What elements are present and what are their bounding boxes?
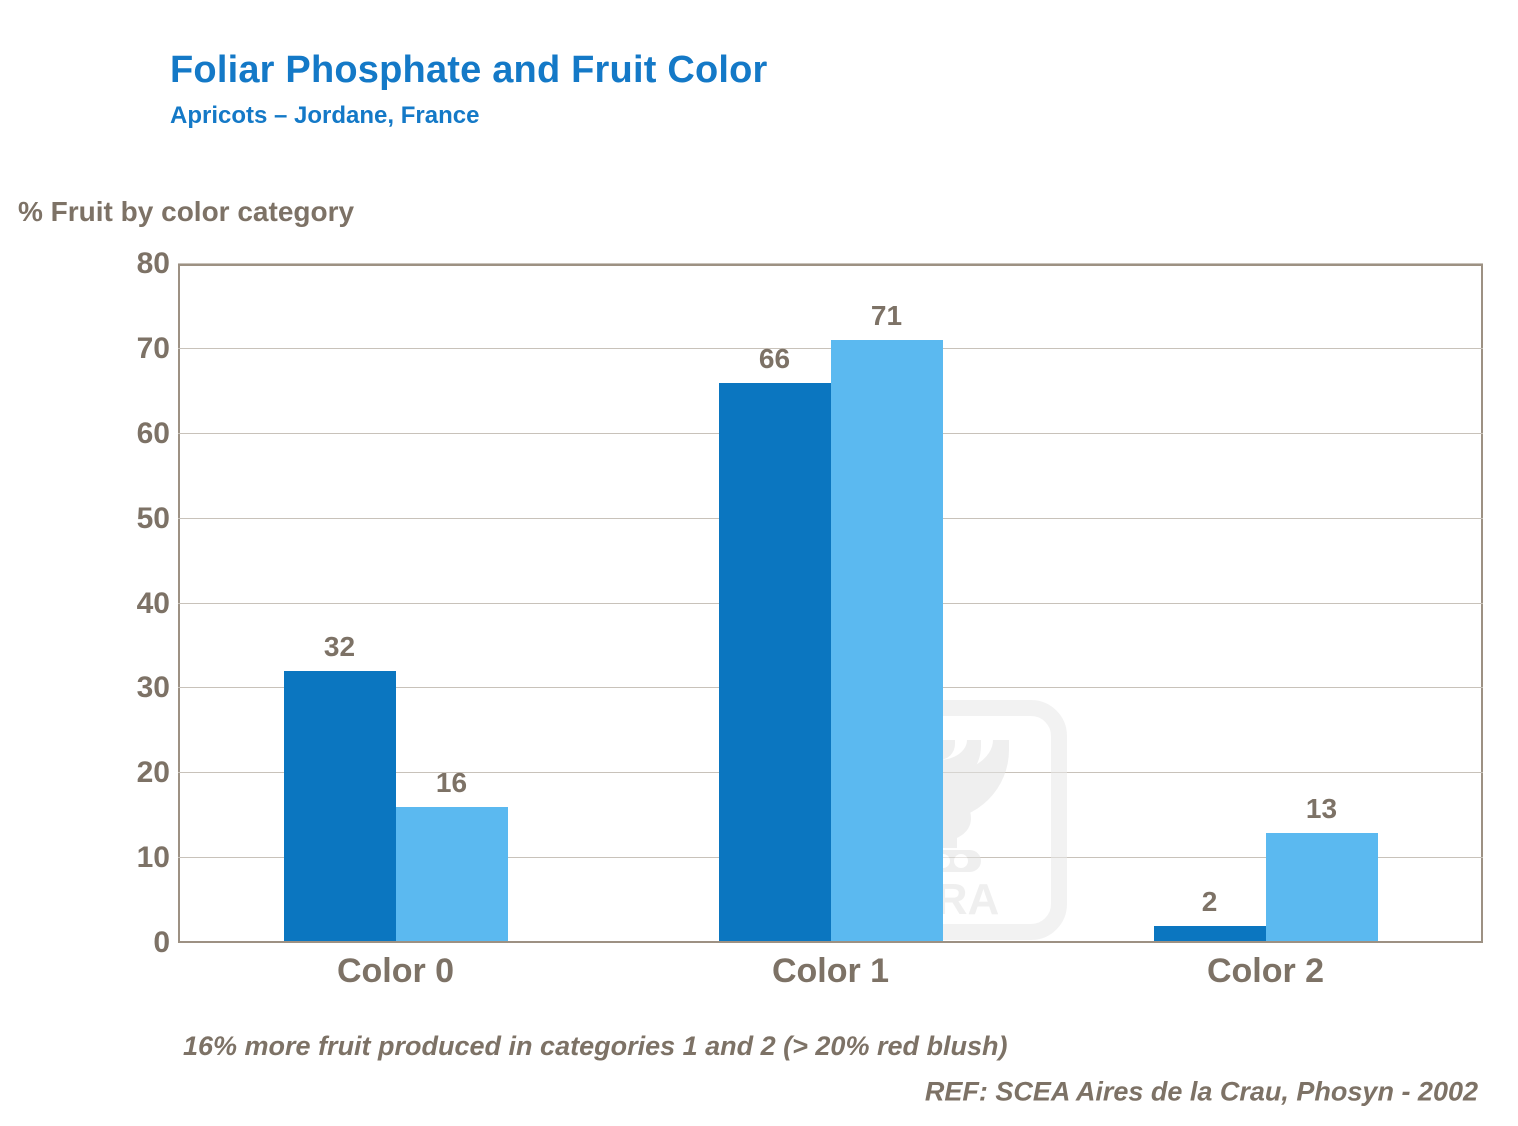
x-tick-label: Color 0 <box>186 952 606 991</box>
page-title: Foliar Phosphate and Fruit Color <box>170 50 768 92</box>
bar-color-0-series-0 <box>284 671 396 943</box>
bar-color-2-series-1 <box>1266 833 1378 943</box>
y-tick-label: 70 <box>50 332 170 366</box>
bar-color-0-series-1 <box>396 807 508 943</box>
x-tick-label: Color 2 <box>1056 952 1476 991</box>
y-tick-label: 60 <box>50 417 170 451</box>
y-tick-label: 80 <box>50 247 170 281</box>
y-tick-label: 30 <box>50 671 170 705</box>
bar-value-label: 32 <box>260 631 420 663</box>
y-tick-label: 40 <box>50 587 170 621</box>
gridline <box>178 263 1483 264</box>
y-tick-label: 0 <box>50 926 170 960</box>
y-tick-label: 50 <box>50 502 170 536</box>
bar-color-1-series-0 <box>719 383 831 943</box>
y-tick-label: 20 <box>50 756 170 790</box>
y-tick-label: 10 <box>50 841 170 875</box>
title-block: Foliar Phosphate and Fruit Color Apricot… <box>170 50 768 130</box>
chart-plot-area: YARA 32166671213 <box>178 264 1483 943</box>
chart-reference: REF: SCEA Aires de la Crau, Phosyn - 200… <box>925 1077 1478 1108</box>
page-subtitle: Apricots – Jordane, France <box>170 102 768 130</box>
x-axis-line <box>178 941 1483 943</box>
bar-value-label: 16 <box>372 767 532 799</box>
chart-annotation: 16% more fruit produced in categories 1 … <box>183 1031 1007 1062</box>
x-tick-label: Color 1 <box>621 952 1041 991</box>
bar-value-label: 71 <box>807 300 967 332</box>
y-axis-caption: % Fruit by color category <box>18 196 354 228</box>
bar-value-label: 13 <box>1242 793 1402 825</box>
bar-color-1-series-1 <box>831 340 943 943</box>
